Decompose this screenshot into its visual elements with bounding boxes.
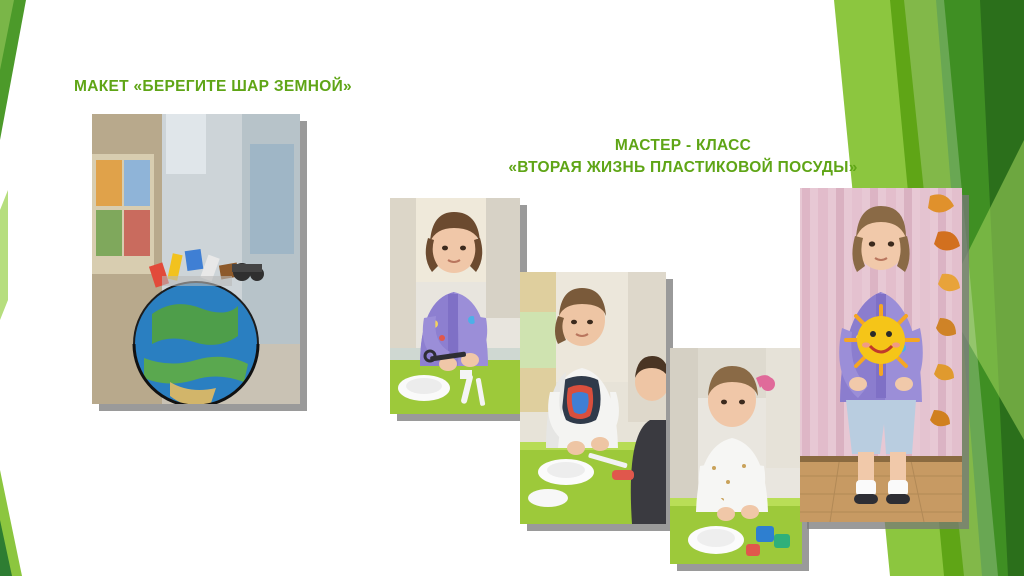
decoration-left: [0, 0, 40, 576]
page-title-right-line1: МАСТЕР - КЛАСС: [468, 135, 898, 157]
slide: МАКЕТ «БЕРЕГИТЕ ШАР ЗЕМНОЙ» МАСТЕР - КЛА…: [0, 0, 1024, 576]
photo-teacher-with-children: Воспитатель с детьми за столом режет тар…: [520, 272, 666, 524]
page-title-right-line2: «ВТОРАЯ ЖИЗНЬ ПЛАСТИКОВОЙ ПОСУДЫ»: [468, 157, 898, 179]
photo-girl-with-sun: Девочка держит поделку солнышко из тарел…: [800, 188, 962, 522]
page-title-left: МАКЕТ «БЕРЕГИТЕ ШАР ЗЕМНОЙ»: [74, 78, 352, 96]
photo-girl-cutting: Девочка в сиреневой кофте режет пластико…: [390, 198, 520, 414]
page-title-right: МАСТЕР - КЛАСС «ВТОРАЯ ЖИЗНЬ ПЛАСТИКОВОЙ…: [468, 135, 898, 180]
photo-child-gluing: Ребёнок с хвостиком клеит деталь на зелё…: [670, 348, 802, 564]
photo-globe-model: Макет глобуса с мусором на столе в групп…: [92, 114, 300, 404]
